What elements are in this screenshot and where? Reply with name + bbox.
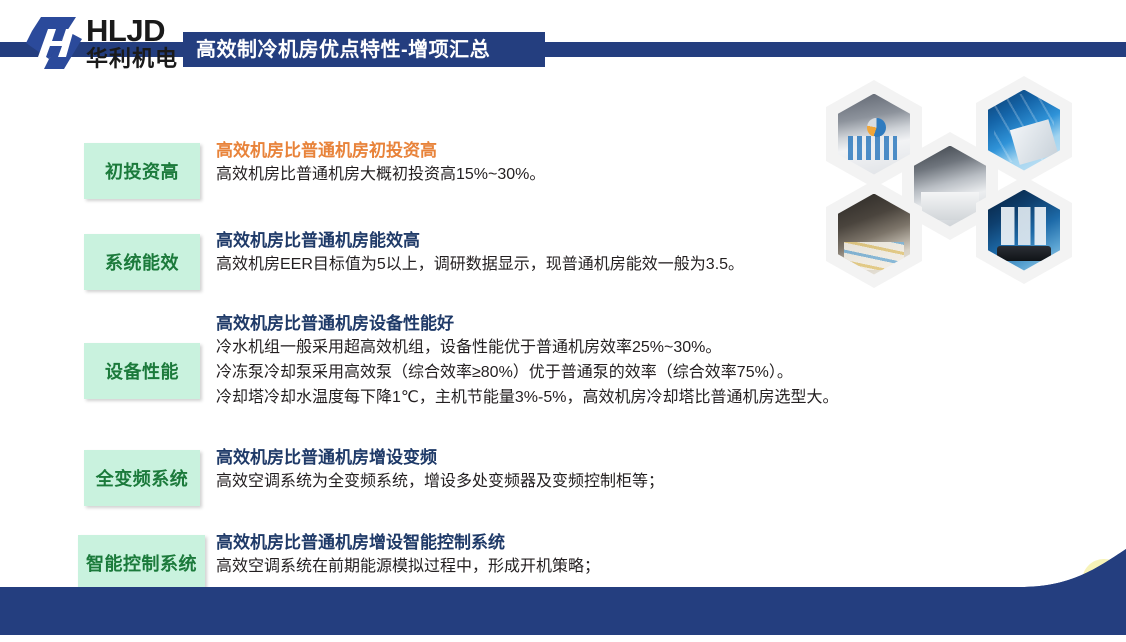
feature-title-initial-investment: 高效机房比普通机房初投资高 [216, 140, 545, 163]
feature-line: 冷冻泵冷却泵采用高效泵（综合效率≥80%）优于普通泵的效率（综合效率75%）。 [216, 361, 838, 386]
logo-latin-text: HLJD [86, 16, 178, 45]
feature-line: 高效空调系统为全变频系统，增设多处变频器及变频控制柜等； [216, 470, 664, 495]
feature-line: 高效机房比普通机房大概初投资高15%~30%。 [216, 163, 545, 188]
badge-system-efficiency: 系统能效 [84, 234, 200, 290]
feature-line: 冷水机组一般采用超高效机组，设备性能优于普通机房效率25%~30%。 [216, 336, 838, 361]
feature-line: 冷却塔冷却水温度每下降1℃，主机节能量3%-5%，高效机房冷却塔比普通机房选型大… [216, 386, 838, 411]
feature-title-system-efficiency: 高效机房比普通机房能效高 [216, 230, 744, 253]
feature-line: 高效机房EER目标值为5以上，调研数据显示，现普通机房能效一般为3.5。 [216, 253, 744, 278]
company-logo: HLJD 华利机电 [24, 12, 194, 74]
slide-canvas: 高效制冷机房优点特性-增项汇总 HLJD 华利机电 [0, 0, 1126, 642]
badge-equipment-performance: 设备性能 [84, 343, 200, 399]
badge-full-vfd-system: 全变频系统 [84, 450, 200, 506]
footer-band [0, 547, 1126, 642]
feature-title-full-vfd-system: 高效机房比普通机房增设变频 [216, 447, 664, 470]
badge-initial-investment: 初投资高 [84, 143, 200, 199]
feature-title-equipment-performance: 高效机房比普通机房设备性能好 [216, 313, 838, 336]
logo-wordmark: HLJD 华利机电 [86, 16, 178, 70]
logo-chinese-text: 华利机电 [86, 47, 178, 70]
feature-body-equipment-performance: 高效机房比普通机房设备性能好 冷水机组一般采用超高效机组，设备性能优于普通机房效… [216, 313, 838, 410]
hljd-hexagon-h-logo-icon [24, 15, 84, 71]
feature-body-system-efficiency: 高效机房比普通机房能效高 高效机房EER目标值为5以上，调研数据显示，现普通机房… [216, 230, 744, 278]
content-rows: 初投资高 高效机房比普通机房初投资高 高效机房比普通机房大概初投资高15%~30… [0, 0, 1126, 642]
feature-body-full-vfd-system: 高效机房比普通机房增设变频 高效空调系统为全变频系统，增设多处变频器及变频控制柜… [216, 447, 664, 495]
feature-body-initial-investment: 高效机房比普通机房初投资高 高效机房比普通机房大概初投资高15%~30%。 [216, 140, 545, 188]
